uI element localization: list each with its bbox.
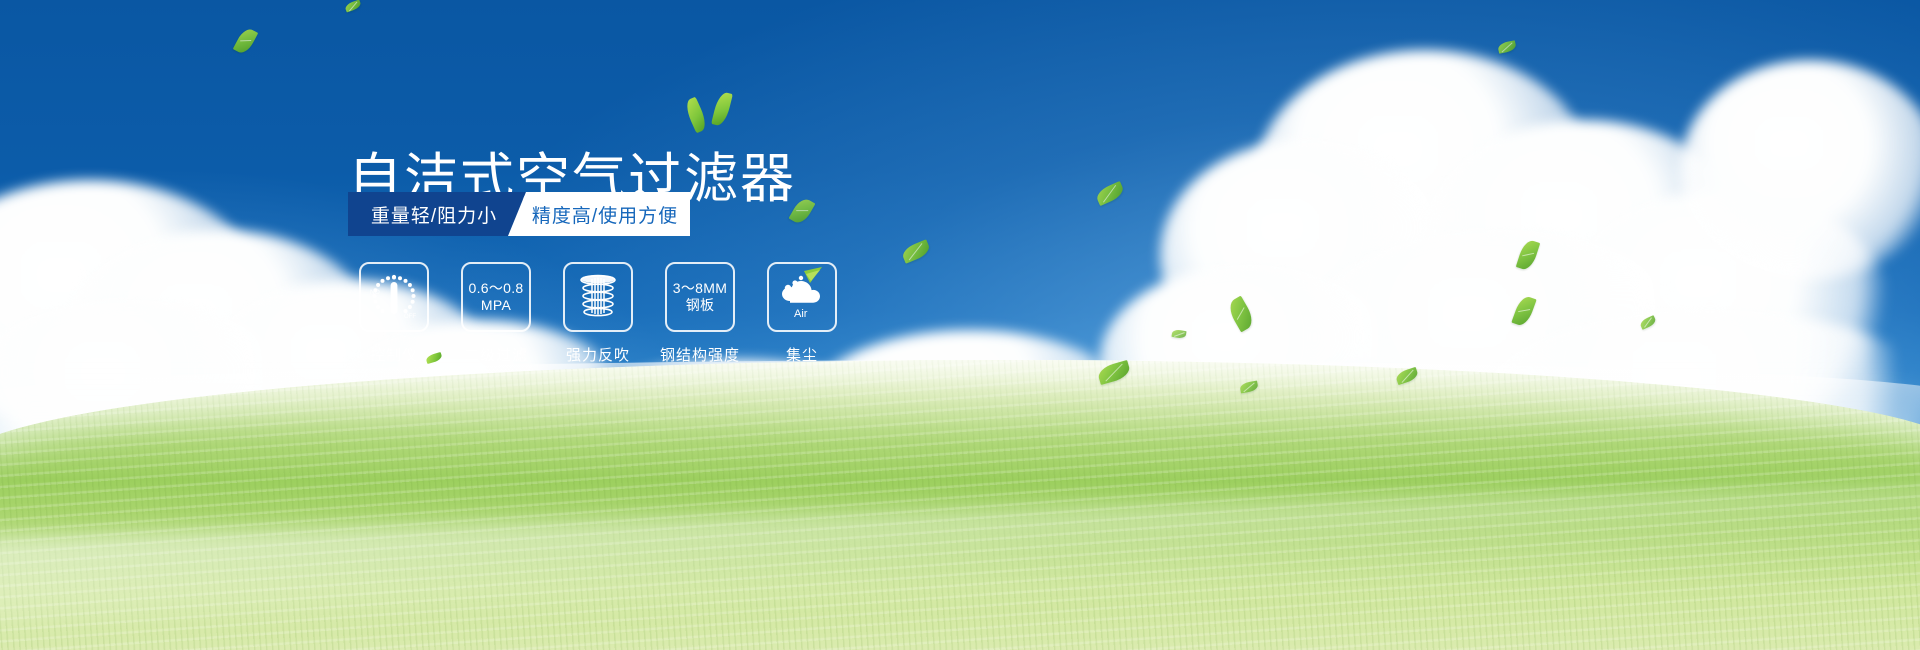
title-sprout-leaf-icon <box>683 88 743 134</box>
tagline-tab-primary-label: 重量轻/阻力小 <box>371 201 497 228</box>
feature-caption: 集尘 <box>786 344 818 365</box>
tagline-tab-secondary[interactable]: 精度高/使用方便 <box>508 192 690 236</box>
leaf-icon <box>711 91 733 127</box>
leaf-icon <box>683 97 710 134</box>
tagline-tabs: 重量轻/阻力小 精度高/使用方便 <box>348 192 690 236</box>
control-dial-icon: NO OFF <box>359 262 429 332</box>
steel-value-line2: 钢板 <box>673 297 727 314</box>
svg-text:NO: NO <box>370 289 380 296</box>
feature-caption: 强力反吹 <box>566 344 630 365</box>
steel-plate-text-icon: 3〜8MM 钢板 <box>665 262 735 332</box>
feature-caption: 钢结构强度 <box>660 344 740 365</box>
feature-item-backflush[interactable]: 强力反吹 <box>558 262 638 365</box>
pressure-text-icon: 0.6〜0.8 MPA <box>461 262 531 332</box>
tagline-tab-primary[interactable]: 重量轻/阻力小 <box>348 192 526 236</box>
banner-content: 自洁式空气过滤器 重量轻/阻力小 精度高/使用方便 <box>348 0 908 650</box>
grass-field <box>0 360 1920 650</box>
tagline-tab-secondary-label: 精度高/使用方便 <box>532 201 678 228</box>
pressure-value-line2: MPA <box>468 297 523 314</box>
svg-text:OFF: OFF <box>404 314 416 320</box>
product-hero-banner: 自洁式空气过滤器 重量轻/阻力小 精度高/使用方便 <box>0 0 1920 650</box>
filter-coil-icon <box>563 262 633 332</box>
air-label: Air <box>794 308 808 320</box>
grass-highlight <box>0 360 1920 480</box>
steel-value-line1: 3〜8MM <box>673 280 727 297</box>
feature-item-pressure[interactable]: 0.6〜0.8 MPA 二级过滤 <box>456 262 536 365</box>
feature-caption: 二级过滤 <box>464 344 528 365</box>
feature-item-dust-collection[interactable]: Air 集尘 <box>762 262 842 365</box>
feature-icon-row: NO OFF 控制仪 0.6〜0.8 MPA 二级过滤 <box>354 262 842 365</box>
feature-item-control-dial[interactable]: NO OFF 控制仪 <box>354 262 434 365</box>
feature-caption: 控制仪 <box>370 344 418 365</box>
feature-item-steel-strength[interactable]: 3〜8MM 钢板 钢结构强度 <box>660 262 740 365</box>
pressure-value-line1: 0.6〜0.8 <box>468 280 523 297</box>
air-cloud-icon: Air <box>767 262 837 332</box>
